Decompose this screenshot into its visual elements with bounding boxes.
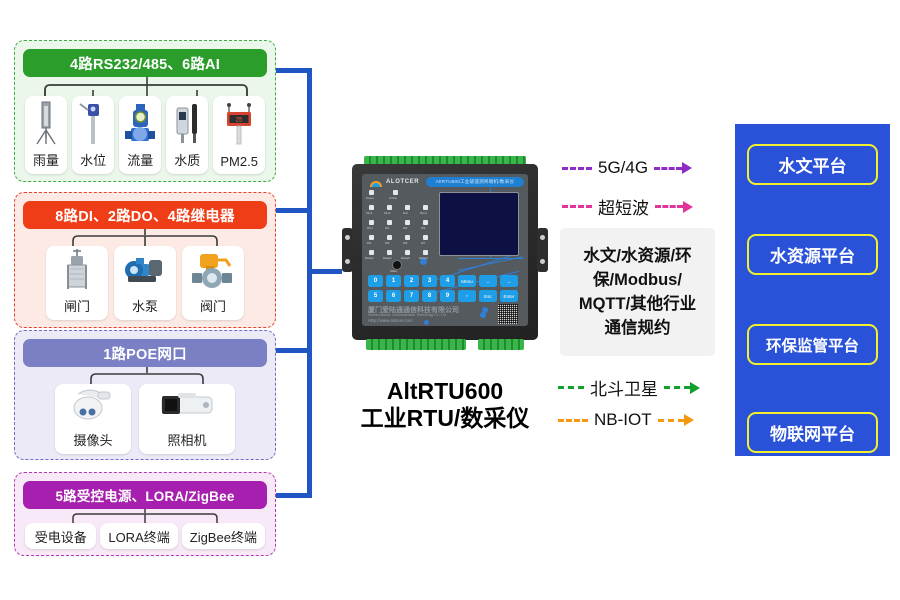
group-power-lora-zigbee: 5路受控电源、LORA/ZigBee 受电设备 LORA终端 ZigBee终端: [14, 472, 276, 556]
alotcer-logo-icon: [368, 178, 384, 189]
tile-label: 受电设备: [35, 527, 87, 546]
led-label: DI5: [385, 241, 389, 245]
protocol-line-2: 保/Modbus/: [579, 268, 696, 292]
dash-line-left: [562, 167, 592, 170]
group-poe: 1路POE网口 摄像头: [14, 330, 276, 460]
platform-environmental[interactable]: 环保监管平台: [747, 324, 878, 365]
mounting-ear-left: [342, 228, 353, 272]
led-di4: [369, 235, 374, 240]
led-label: Rsvd: [420, 211, 426, 215]
svg-text:25: 25: [236, 117, 243, 123]
qr-code-icon: [498, 304, 518, 324]
tile-zigbee-terminal[interactable]: ZigBee终端: [182, 523, 265, 549]
led-di1: [387, 220, 392, 225]
pm25-monitor-icon: 25: [213, 96, 265, 151]
led-label: DI6: [403, 241, 407, 245]
group-poe-tiles: 摄像头 照相机: [25, 384, 265, 454]
water-quality-probe-icon: [166, 96, 208, 147]
group-serial-ai: 4路RS232/485、6路AI 雨量: [14, 40, 276, 182]
company-website: Http://www.alotcer.com: [368, 318, 413, 323]
led-label: Relay4: [419, 256, 428, 260]
flow-meter-icon: [119, 96, 161, 147]
device-title-line2: 工业RTU/数采仪: [330, 405, 560, 432]
key-esc[interactable]: Esc: [479, 290, 497, 302]
protocol-nbiot: NB-IOT: [558, 410, 694, 430]
led-label: DI2: [403, 226, 407, 230]
key-right-arrow[interactable]: →: [500, 275, 518, 287]
tile-rain-gauge[interactable]: 雨量: [25, 96, 67, 174]
group-serial-ai-tiles: 雨量 水位: [25, 96, 265, 174]
device-title-line1: AltRTU600: [330, 378, 560, 405]
tile-label: PM2.5: [218, 151, 260, 174]
bus-vertical: [307, 68, 312, 498]
led-relay3: [405, 250, 410, 255]
led-relay2: [387, 250, 392, 255]
dash-line-right: [654, 167, 682, 170]
key-0[interactable]: 0: [368, 275, 383, 287]
tile-label: 照相机: [165, 427, 208, 454]
platform-water-resources[interactable]: 水资源平台: [747, 234, 878, 275]
terminal-block-bottom-right: [478, 339, 524, 350]
key-menu[interactable]: Menu: [458, 275, 476, 287]
tile-powered-device[interactable]: 受电设备: [25, 523, 96, 549]
led-label: DI3: [421, 226, 425, 230]
arrow-head-icon: [683, 201, 693, 213]
protocol-line-3: MQTT/其他行业: [579, 292, 696, 316]
device-banner: AltRTU600工业级遥测终端机/数采仪: [426, 177, 524, 187]
led-power-label: Power: [366, 196, 374, 200]
protocol-label: 超短波: [592, 194, 655, 219]
wake-label: Wake: [390, 269, 397, 273]
tile-label: 阀门: [198, 293, 228, 320]
tile-label: 摄像头: [71, 427, 114, 454]
led-run: [405, 205, 410, 210]
tile-label: LORA终端: [108, 527, 169, 546]
terminal-block-bottom-left: [366, 339, 466, 350]
tile-label: ZigBee终端: [190, 527, 257, 546]
dash-line-right: [658, 419, 684, 422]
dash-line-left: [562, 205, 592, 208]
tile-pm25[interactable]: 25 PM2.5: [213, 96, 265, 174]
protocol-label: 北斗卫星: [584, 375, 664, 400]
protocol-standards-box: 水文/水资源/环 保/Modbus/ MQTT/其他行业 通信规约: [560, 228, 715, 356]
key-7[interactable]: 7: [404, 290, 419, 302]
key-4[interactable]: 4: [440, 275, 455, 287]
led-label: Relay1: [365, 256, 374, 260]
led-rsvd: [423, 205, 428, 210]
led-di6: [405, 235, 410, 240]
pcb-via: [424, 320, 429, 325]
dash-line-left: [558, 419, 588, 422]
led-label: Sim2: [384, 211, 390, 215]
water-pump-icon: [114, 246, 176, 293]
led-di2: [405, 220, 410, 225]
key-1[interactable]: 1: [386, 275, 401, 287]
tile-label: 雨量: [31, 147, 61, 174]
led-online-label: Online: [389, 196, 397, 200]
tile-water-quality[interactable]: 水质: [166, 96, 208, 174]
rtu-device-image: ALOTCER AltRTU600工业级遥测终端机/数采仪 Power Onli…: [330, 150, 560, 365]
key-2[interactable]: 2: [404, 275, 419, 287]
led-label: Sim1: [366, 211, 372, 215]
platform-panel: 水文平台 水资源平台 环保监管平台 物联网平台: [735, 124, 890, 456]
led-label: DI4: [367, 241, 371, 245]
protocol-line-1: 水文/水资源/环: [579, 244, 696, 268]
led-di3: [423, 220, 428, 225]
group-di-do-relay-header: 8路DI、2路DO、4路继电器: [23, 201, 267, 229]
arrow-head-icon: [690, 382, 700, 394]
device-brand: ALOTCER: [386, 179, 419, 185]
group-power-lora-zigbee-header: 5路受控电源、LORA/ZigBee: [23, 481, 267, 509]
diagram-canvas: 4路RS232/485、6路AI 雨量: [0, 0, 900, 600]
platform-hydrology[interactable]: 水文平台: [747, 144, 878, 185]
key-enter[interactable]: Enter: [500, 290, 518, 302]
key-9[interactable]: 9: [440, 290, 455, 302]
box-camera-icon: [139, 384, 235, 427]
group-power-lora-zigbee-tiles: 受电设备 LORA终端 ZigBee终端: [25, 523, 265, 549]
protocol-ultrashortwave: 超短波: [562, 194, 693, 219]
device-title: AltRTU600 工业RTU/数采仪: [330, 378, 560, 432]
tile-flow-meter[interactable]: 流量: [119, 96, 161, 174]
mounting-ear-right: [537, 228, 548, 272]
led-relay4: [423, 250, 428, 255]
led-label: DI7: [421, 241, 425, 245]
led-online: [393, 190, 398, 195]
led-label: DI1: [385, 226, 389, 230]
tile-label: 水质: [172, 147, 202, 174]
protocol-beidou: 北斗卫星: [558, 375, 700, 400]
tile-water-pump[interactable]: 水泵: [114, 246, 176, 320]
led-sim1: [369, 205, 374, 210]
protocol-label: 5G/4G: [592, 158, 654, 178]
led-di5: [387, 235, 392, 240]
group-di-do-relay: 8路DI、2路DO、4路继电器 闸门: [14, 192, 276, 328]
protocol-5g4g: 5G/4G: [562, 158, 692, 178]
device-lcd-screen: [439, 192, 519, 256]
led-power: [369, 190, 374, 195]
led-do1: [369, 220, 374, 225]
tile-label: 闸门: [62, 293, 92, 320]
protocol-label: NB-IOT: [588, 410, 658, 430]
pcb-via: [482, 307, 488, 313]
led-relay1: [369, 250, 374, 255]
protocol-line-4: 通信规约: [579, 316, 696, 340]
dash-line-left: [558, 386, 584, 389]
key-6[interactable]: 6: [386, 290, 401, 302]
platform-iot[interactable]: 物联网平台: [747, 412, 878, 453]
led-label: DO1: [367, 226, 373, 230]
tile-lora-terminal[interactable]: LORA终端: [100, 523, 177, 549]
water-level-sensor-icon: [72, 96, 114, 147]
key-3[interactable]: 3: [422, 275, 437, 287]
tile-label: 水泵: [130, 293, 160, 320]
led-sim2: [387, 205, 392, 210]
dash-line-right: [664, 386, 690, 389]
led-label: Relay3: [401, 256, 410, 260]
valve-icon: [182, 246, 244, 293]
tile-water-level[interactable]: 水位: [72, 96, 114, 174]
dash-line-right: [655, 205, 683, 208]
company-name-en: Xiamen Alotcer Communication Technology …: [368, 313, 446, 317]
group-poe-header: 1路POE网口: [23, 339, 267, 367]
sluice-gate-icon: [46, 246, 108, 293]
device-front-panel: ALOTCER AltRTU600工业级遥测终端机/数采仪 Power Onli…: [362, 174, 528, 326]
tile-label: 水位: [78, 147, 108, 174]
tile-label: 流量: [125, 147, 155, 174]
tile-valve[interactable]: 阀门: [182, 246, 244, 320]
led-label: Relay2: [383, 256, 392, 260]
key-8[interactable]: 8: [422, 290, 437, 302]
tile-dome-camera[interactable]: 摄像头: [55, 384, 131, 454]
group-serial-ai-header: 4路RS232/485、6路AI: [23, 49, 267, 77]
led-di7: [423, 235, 428, 240]
dome-camera-icon: [55, 384, 131, 427]
tile-sluice-gate[interactable]: 闸门: [46, 246, 108, 320]
arrow-head-icon: [684, 414, 694, 426]
rain-gauge-icon: [25, 96, 67, 147]
key-left-arrow[interactable]: ←: [479, 275, 497, 287]
led-label: Run: [403, 211, 408, 215]
key-star[interactable]: *: [458, 290, 476, 302]
tile-box-camera[interactable]: 照相机: [139, 384, 235, 454]
arrow-head-icon: [682, 162, 692, 174]
group-di-do-relay-tiles: 闸门 水泵: [25, 246, 265, 320]
key-5[interactable]: 5: [368, 290, 383, 302]
